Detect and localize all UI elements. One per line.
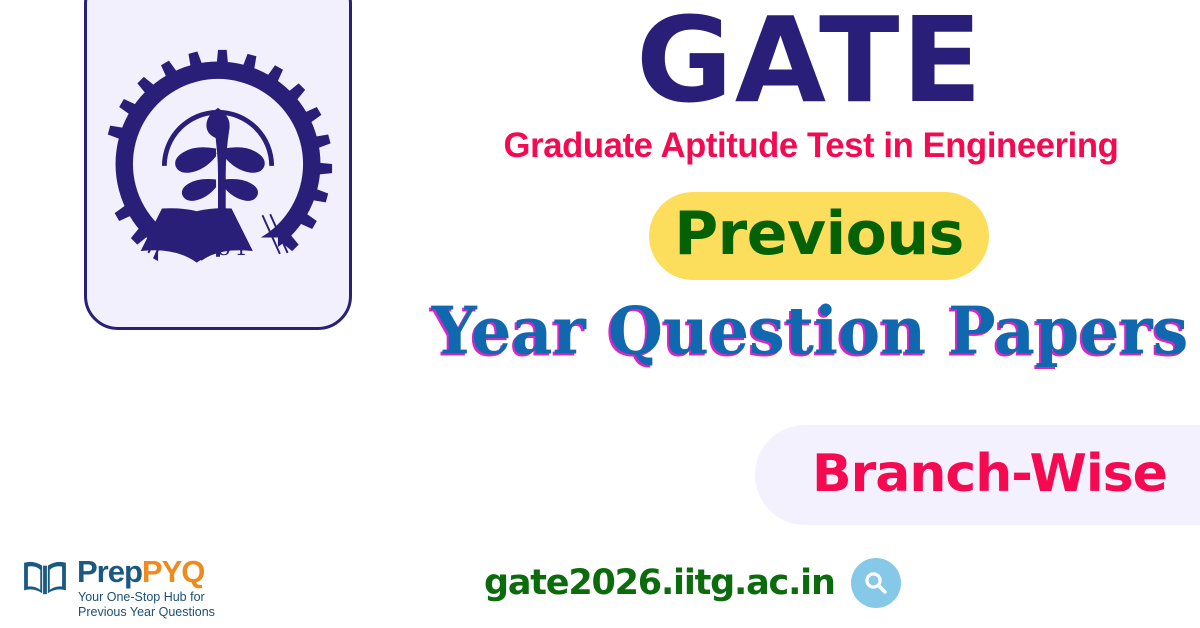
search-badge[interactable] [851,558,901,608]
brand-text-block: PrepPYQ Your One-Stop Hub for Previous Y… [77,556,215,619]
page-subtitle: Graduate Aptitude Test in Engineering [424,126,1198,166]
branch-wise-label: Branch-Wise [812,448,1167,500]
brand-tagline: Your One-Stop Hub for Previous Year Ques… [78,590,215,619]
iit-kharagpur-logo-card: 1951 [84,0,352,330]
poster-canvas: 1951 GATE Graduate Aptitude Test in Engi… [0,0,1200,628]
branch-wise-pill: Branch-Wise [755,425,1200,525]
page-title: GATE [420,0,1200,122]
open-book-icon [22,559,68,597]
brand-tagline-line-1: Your One-Stop Hub for [78,590,215,605]
brand-tagline-line-2: Previous Year Questions [78,605,215,620]
website-url-text[interactable]: gate2026.iitg.ac.in [484,563,835,603]
preppyq-brand-logo[interactable]: PrepPYQ Your One-Stop Hub for Previous Y… [22,556,215,619]
crest-year-label: 1951 [184,236,251,260]
previous-highlight-pill: Previous [649,192,989,280]
website-url-row[interactable]: gate2026.iitg.ac.in [484,558,901,608]
search-icon [861,568,891,598]
brand-wordmark: PrepPYQ [77,556,215,588]
year-question-papers-heading: Year Question Papers [410,294,1200,368]
iit-kharagpur-crest-icon: 1951 [102,48,334,280]
brand-word-pyq: PYQ [142,554,204,589]
brand-word-prep: Prep [77,554,142,589]
previous-label: Previous [674,204,964,264]
